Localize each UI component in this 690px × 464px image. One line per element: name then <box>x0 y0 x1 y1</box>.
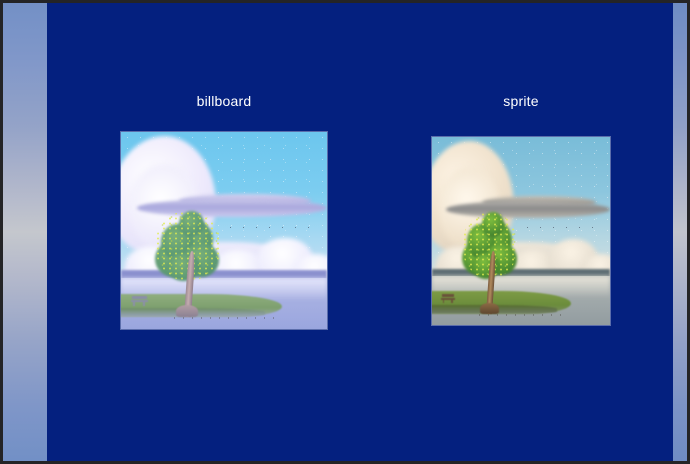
birds-icon <box>521 223 596 232</box>
landscape-scene <box>432 137 610 325</box>
tree-root-flare <box>176 305 198 317</box>
quad-sprite-image[interactable] <box>431 136 611 326</box>
quad-billboard-label: billboard <box>120 93 328 109</box>
tree-icon <box>460 212 524 314</box>
quad-sprite-label: sprite <box>431 93 611 109</box>
quad-billboard-image[interactable] <box>120 131 328 330</box>
quad-billboard[interactable]: billboard <box>120 93 328 333</box>
right-gradient-wall <box>673 3 687 461</box>
park-bench-icon <box>131 296 147 306</box>
tree-icon <box>154 211 228 317</box>
app-window: billboard <box>0 0 690 464</box>
left-gradient-wall <box>3 3 47 461</box>
quad-sprite[interactable]: sprite <box>431 93 611 328</box>
birds-icon <box>224 223 311 233</box>
tree-root-flare <box>480 303 499 314</box>
park-bench-icon <box>441 294 455 303</box>
landscape-scene <box>121 132 327 329</box>
3d-viewport[interactable]: billboard <box>3 3 687 461</box>
